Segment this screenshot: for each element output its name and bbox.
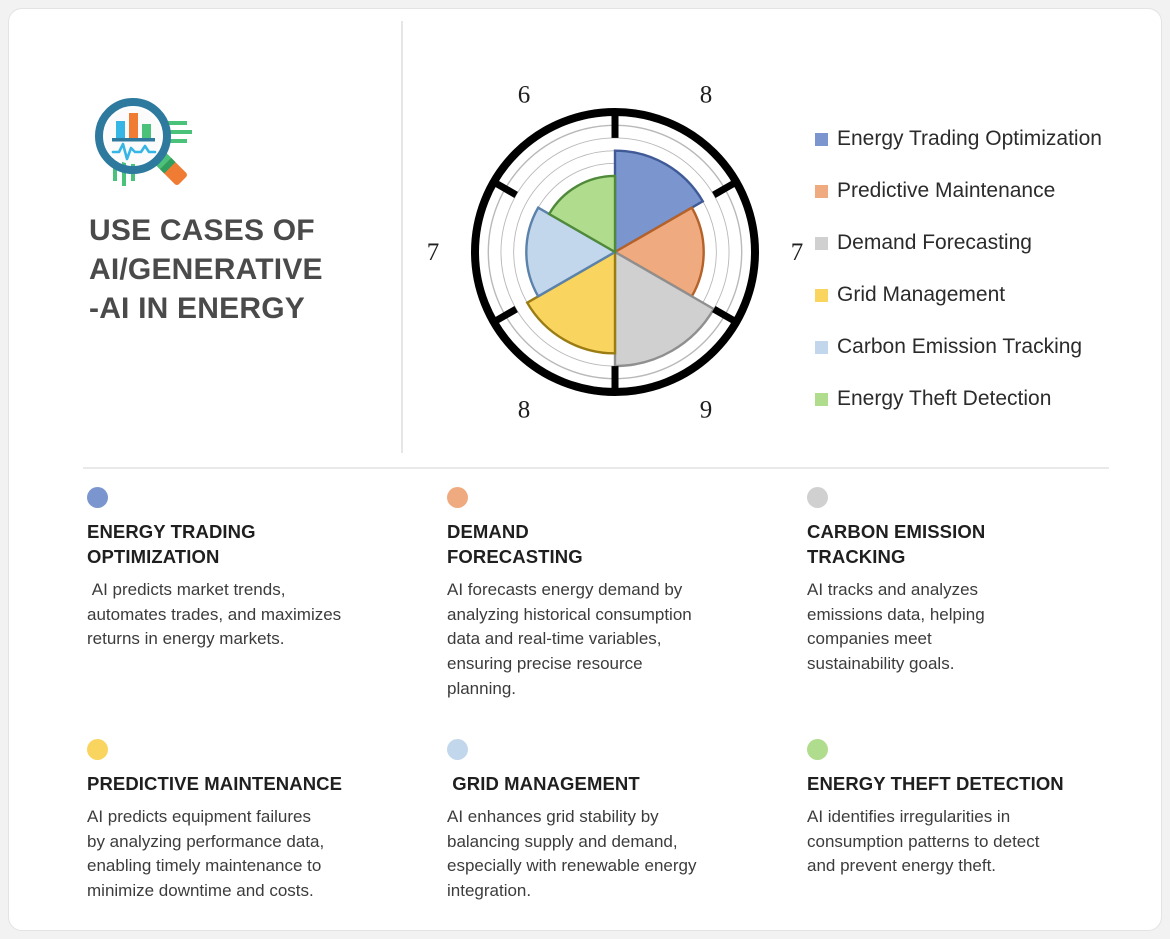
- legend-item-label: Carbon Emission Tracking: [837, 335, 1082, 359]
- chart-value-label: 8: [518, 397, 531, 424]
- legend-swatch-icon: [815, 133, 828, 146]
- page-title-line-1: USE CASES OF: [89, 211, 389, 250]
- card-body: AI tracks and analyzes emissions data, h…: [807, 578, 1145, 677]
- legend-item-label: Energy Theft Detection: [837, 387, 1051, 411]
- polar-rose-chart: 879876: [409, 9, 809, 467]
- card-color-dot: [447, 739, 468, 760]
- legend-swatch-icon: [815, 341, 828, 354]
- card-color-dot: [87, 487, 108, 508]
- card-body: AI forecasts energy demand by analyzing …: [447, 578, 785, 701]
- chart-legend: Energy Trading Optimization Predictive M…: [815, 113, 1102, 425]
- card-body: AI predicts equipment failures by analyz…: [87, 805, 425, 904]
- page-title-line-2: AI/GENERATIVE: [89, 250, 389, 289]
- card-carbon-emission-tracking: CARBON EMISSION TRACKING AI tracks and a…: [807, 487, 1162, 739]
- chart-sectors: [526, 151, 713, 366]
- card-color-dot: [87, 739, 108, 760]
- card-grid-management: GRID MANAGEMENT AI enhances grid stabili…: [447, 739, 803, 929]
- legend-item-energy-theft-detection[interactable]: Energy Theft Detection: [815, 373, 1102, 425]
- legend-swatch-icon: [815, 185, 828, 198]
- card-energy-trading-optimization: ENERGY TRADING OPTIMIZATION AI predicts …: [87, 487, 443, 739]
- legend-item-predictive-maintenance[interactable]: Predictive Maintenance: [815, 165, 1102, 217]
- legend-swatch-icon: [815, 393, 828, 406]
- card-body: AI identifies irregularities in consumpt…: [807, 805, 1145, 879]
- card-body: AI predicts market trends, automates tra…: [87, 578, 425, 652]
- chart-value-label: 6: [518, 81, 531, 108]
- legend-swatch-icon: [815, 237, 828, 250]
- card-color-dot: [447, 487, 468, 508]
- legend-item-grid-management[interactable]: Grid Management: [815, 269, 1102, 321]
- card-title: ENERGY THEFT DETECTION: [807, 772, 1145, 797]
- card-title: ENERGY TRADING OPTIMIZATION: [87, 520, 425, 570]
- legend-swatch-icon: [815, 289, 828, 302]
- card-predictive-maintenance: PREDICTIVE MAINTENANCE AI predicts equip…: [87, 739, 443, 929]
- chart-canvas: 879876: [409, 9, 809, 467]
- horizontal-divider: [83, 467, 1109, 469]
- chart-value-label: 7: [791, 239, 804, 266]
- chart-value-label: 7: [427, 239, 440, 266]
- card-title: CARBON EMISSION TRACKING: [807, 520, 1145, 570]
- card-body: AI enhances grid stability by balancing …: [447, 805, 785, 904]
- chart-value-label: 9: [700, 397, 713, 424]
- cards-grid: ENERGY TRADING OPTIMIZATION AI predicts …: [9, 487, 1162, 931]
- card-title: GRID MANAGEMENT: [447, 772, 785, 797]
- page-title-line-3: -AI IN ENERGY: [89, 289, 389, 328]
- legend-item-demand-forecasting[interactable]: Demand Forecasting: [815, 217, 1102, 269]
- card-color-dot: [807, 487, 828, 508]
- card-title: PREDICTIVE MAINTENANCE: [87, 772, 425, 797]
- card-title: DEMAND FORECASTING: [447, 520, 785, 570]
- legend-item-label: Energy Trading Optimization: [837, 127, 1102, 151]
- top-section: USE CASES OF AI/GENERATIVE -AI IN ENERGY…: [9, 9, 1162, 467]
- vertical-divider: [401, 21, 403, 453]
- card-color-dot: [807, 739, 828, 760]
- page-title: USE CASES OF AI/GENERATIVE -AI IN ENERGY: [89, 211, 389, 328]
- legend-item-label: Grid Management: [837, 283, 1005, 307]
- magnifier-bar-chart-icon: [89, 95, 197, 191]
- brand-block: USE CASES OF AI/GENERATIVE -AI IN ENERGY: [89, 95, 389, 328]
- legend-item-label: Demand Forecasting: [837, 231, 1032, 255]
- legend-item-label: Predictive Maintenance: [837, 179, 1055, 203]
- chart-value-label: 8: [700, 81, 713, 108]
- legend-item-carbon-emission-tracking[interactable]: Carbon Emission Tracking: [815, 321, 1102, 373]
- legend-item-energy-trading-optimization[interactable]: Energy Trading Optimization: [815, 113, 1102, 165]
- infographic-page: USE CASES OF AI/GENERATIVE -AI IN ENERGY…: [8, 8, 1162, 931]
- card-demand-forecasting: DEMAND FORECASTING AI forecasts energy d…: [447, 487, 803, 739]
- card-energy-theft-detection: ENERGY THEFT DETECTION AI identifies irr…: [807, 739, 1162, 929]
